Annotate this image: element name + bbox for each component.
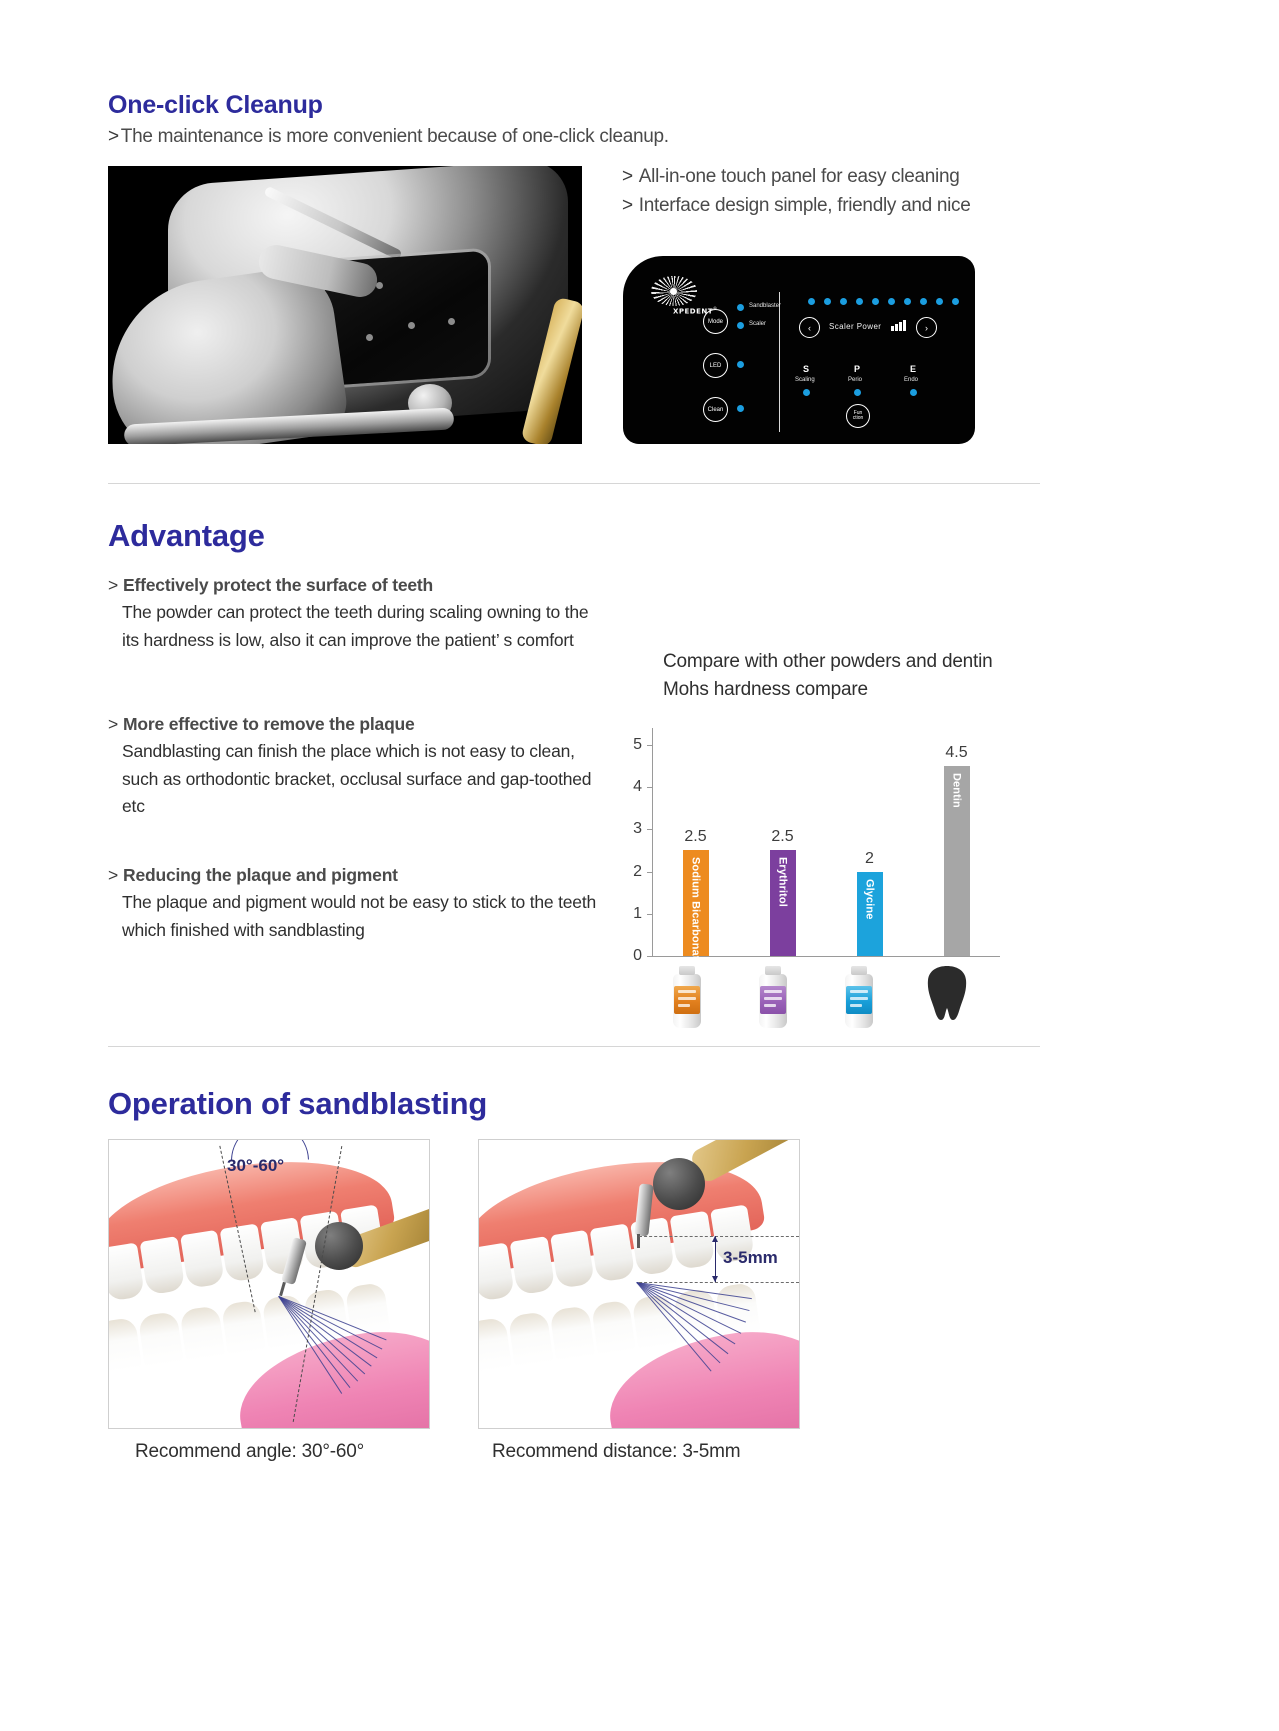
panel-power-dot-row [808, 298, 959, 305]
cleanup-bullet-list: >All-in-one touch panel for easy cleanin… [622, 162, 1052, 220]
chart-bar-value-label: 2.5 [684, 828, 706, 846]
divider-1 [108, 483, 1040, 484]
advantage-item-1-heading: >Effectively protect the surface of teet… [108, 575, 598, 596]
photo-one-click-cleanup [108, 166, 582, 444]
advantage-item-3-heading: >Reducing the plaque and pigment [108, 865, 598, 886]
operation-caption-angle: Recommend angle: 30°-60° [135, 1441, 364, 1463]
panel-power-dot [840, 298, 847, 305]
advantage-item-1-heading-text: Effectively protect the surface of teeth [123, 575, 433, 595]
panel-mode-name-scaling: Scaling [795, 377, 815, 383]
list-item: >All-in-one touch panel for easy cleanin… [622, 162, 1052, 191]
mohs-hardness-chart: Compare with other powders and dentin Mo… [620, 648, 1060, 1028]
chart-y-tick [647, 787, 652, 788]
chart-x-axis [652, 956, 1000, 957]
bullet-arrow-icon: > [622, 195, 633, 216]
tooth-icon [925, 964, 969, 1022]
panel-power-dot [872, 298, 879, 305]
chart-bar-value-label: 2 [865, 850, 874, 868]
advantage-item-3-heading-text: Reducing the plaque and pigment [123, 865, 398, 885]
section-title-operation-of-sandblasting: Operation of sandblasting [108, 1086, 487, 1122]
panel-button-function[interactable]: Fun ction [846, 404, 870, 428]
panel-led-perio [854, 389, 861, 396]
panel-power-dot [936, 298, 943, 305]
panel-power-dot [824, 298, 831, 305]
panel-led-indicator-clean [737, 405, 744, 412]
panel-button-clean[interactable]: Clean [703, 397, 728, 422]
chart-title-line-1: Compare with other powders and dentin [663, 648, 1063, 676]
chart-y-tick [647, 872, 652, 873]
bullet-arrow-icon: > [108, 714, 118, 734]
photo-screen-dot [448, 318, 455, 325]
chart-y-tick-label: 3 [620, 820, 642, 838]
panel-power-increase-button[interactable]: › [916, 317, 937, 338]
section-title-advantage: Advantage [108, 518, 265, 554]
operation-figure-angle: 30°-60° [108, 1139, 430, 1429]
panel-label-sandblaster: Sandblaster [749, 303, 781, 309]
panel-power-level-bars [891, 320, 906, 331]
section-title-one-click-cleanup: One-click Cleanup [108, 91, 323, 120]
chart-y-tick-label: 5 [620, 736, 642, 754]
chart-bar-category-label: Sodium Bicarbonate [690, 857, 702, 966]
photo-screen-dot [366, 334, 373, 341]
advantage-item-1-body: The powder can protect the teeth during … [122, 599, 598, 654]
panel-led-indicator-led [737, 361, 744, 368]
figure1-handpiece-head [315, 1222, 363, 1270]
panel-led-endo [910, 389, 917, 396]
list-item-label: Interface design simple, friendly and ni… [639, 195, 971, 216]
bullet-arrow-icon: > [108, 865, 118, 885]
figure2-distance-bottom-dashed [639, 1282, 799, 1283]
advantage-item-2-heading-text: More effective to remove the plaque [123, 714, 415, 734]
chart-bar-category-label: Dentin [951, 773, 963, 808]
panel-button-led-label: LED [710, 363, 722, 369]
chart-bar: Dentin4.5 [944, 766, 970, 956]
advantage-item-2-body: Sandblasting can finish the place which … [122, 738, 598, 821]
list-item-label: All-in-one touch panel for easy cleaning [639, 166, 960, 187]
advantage-item-1: >Effectively protect the surface of teet… [108, 575, 598, 654]
figure2-powder-spray [637, 1282, 757, 1372]
panel-label-scaler: Scaler [749, 321, 766, 327]
chart-bar: Sodium Bicarbonate2.5 [683, 850, 709, 956]
operation-caption-distance: Recommend distance: 3-5mm [492, 1441, 740, 1463]
chart-y-tick-label: 4 [620, 778, 642, 796]
chart-y-tick-label: 0 [620, 947, 642, 965]
chart-y-tick-label: 1 [620, 905, 642, 923]
chevron-left-icon: ‹ [808, 323, 811, 333]
photo-screen-dot [408, 322, 415, 329]
chart-y-tick [647, 829, 652, 830]
chart-bar-category-label: Erythritol [777, 857, 789, 907]
panel-power-dot [856, 298, 863, 305]
chart-plot-area: 012345 Sodium Bicarbonate2.5Erythritol2.… [620, 728, 1000, 956]
chevron-right-icon: › [925, 323, 928, 333]
advantage-item-3-body: The plaque and pigment would not be easy… [122, 889, 598, 944]
panel-led-sandblaster [737, 304, 744, 311]
chart-title-line-2: Mohs hardness compare [663, 676, 1063, 704]
figure1-powder-spray [279, 1296, 399, 1386]
panel-button-led[interactable]: LED [703, 353, 728, 378]
panel-mode-key-e: E [910, 364, 916, 374]
cleanup-subtitle-text: The maintenance is more convenient becau… [121, 126, 669, 147]
operation-figure-distance: 3-5mm [478, 1139, 800, 1429]
figure2-handpiece-head [653, 1158, 705, 1210]
chart-bar: Glycine2 [857, 872, 883, 956]
figure1-angle-annotation: 30°-60° [227, 1156, 284, 1176]
panel-led-scaling [803, 389, 810, 396]
panel-mode-name-perio: Perio [848, 377, 862, 383]
chart-title: Compare with other powders and dentin Mo… [663, 648, 1063, 704]
chart-y-tick [647, 914, 652, 915]
chart-bar-category-label: Glycine [864, 879, 876, 919]
figure2-distance-arrow [715, 1236, 716, 1282]
panel-mode-name-endo: Endo [904, 377, 918, 383]
panel-power-dot [952, 298, 959, 305]
panel-label-scaler-power: Scaler Power [829, 322, 881, 331]
advantage-item-2-heading: >More effective to remove the plaque [108, 714, 598, 735]
panel-power-decrease-button[interactable]: ‹ [799, 317, 820, 338]
photo-screen-dot [376, 282, 383, 289]
brochure-page: One-click Cleanup >The maintenance is mo… [0, 0, 1279, 1731]
list-item: >Interface design simple, friendly and n… [622, 191, 1052, 220]
figure2-distance-annotation: 3-5mm [723, 1248, 778, 1268]
panel-mode-key-s: S [803, 364, 809, 374]
chart-y-axis [652, 728, 653, 956]
panel-power-dot [904, 298, 911, 305]
chart-y-tick [647, 745, 652, 746]
panel-button-function-label-2: ction [853, 416, 864, 422]
chart-y-tick [647, 956, 652, 957]
figure1-nozzle-tip [279, 1282, 286, 1296]
panel-led-scaler [737, 322, 744, 329]
bullet-arrow-icon: > [622, 166, 633, 187]
figure2-distance-top-dashed [639, 1236, 799, 1237]
panel-mode-key-p: P [854, 364, 860, 374]
chart-bar-value-label: 2.5 [771, 828, 793, 846]
chart-y-tick-label: 2 [620, 863, 642, 881]
panel-divider [779, 292, 780, 432]
bullet-arrow-icon: > [108, 575, 118, 595]
divider-2 [108, 1046, 1040, 1047]
xpedent-logo-icon: XPEDENT® [651, 276, 713, 314]
panel-power-dot [808, 298, 815, 305]
advantage-item-3: >Reducing the plaque and pigment The pla… [108, 865, 598, 944]
figure2-handpiece-handle [689, 1139, 800, 1185]
chart-bar-value-label: 4.5 [945, 744, 967, 762]
panel-button-mode-label: Mode [708, 319, 723, 325]
cleanup-subtitle: >The maintenance is more convenient beca… [108, 126, 669, 148]
purple-powder-bottle-icon [754, 966, 792, 1028]
panel-button-clean-label: Clean [708, 407, 724, 413]
advantage-item-2: >More effective to remove the plaque San… [108, 714, 598, 821]
panel-power-dot [888, 298, 895, 305]
bullet-arrow-icon: > [108, 126, 119, 147]
orange-powder-bottle-icon [668, 966, 706, 1028]
blue-powder-bottle-icon [840, 966, 878, 1028]
touch-panel-illustration: XPEDENT® Mode Sandblaster Scaler LED Cle… [623, 256, 975, 444]
panel-button-mode[interactable]: Mode [703, 309, 728, 334]
panel-power-dot [920, 298, 927, 305]
chart-bar: Erythritol2.5 [770, 850, 796, 956]
